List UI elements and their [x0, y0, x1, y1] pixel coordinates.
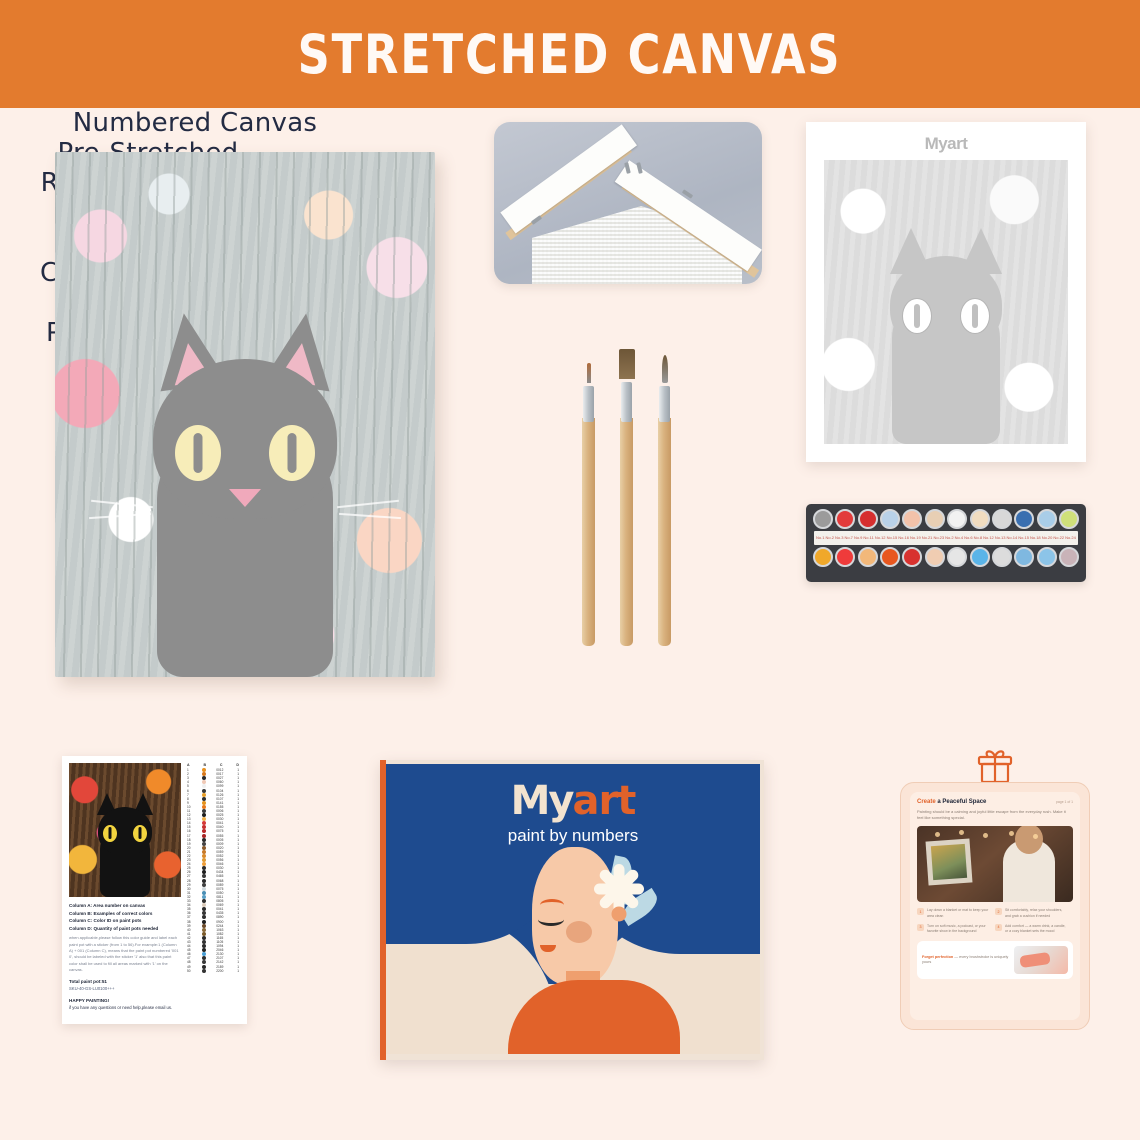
paint-pot: [1037, 509, 1057, 529]
page-title: STRETCHED CANVAS: [298, 23, 842, 86]
paint-pot-code: No.1: [816, 536, 824, 540]
swatch-color-dot: [202, 879, 206, 883]
color-card-item[interactable]: Column A: Area number on canvas Column B…: [62, 756, 247, 1024]
cat-nose: [229, 489, 261, 507]
pdf-guide-item[interactable]: Create a Peaceful Space page 1 of 1 Pain…: [900, 748, 1090, 1030]
tip-text: Lay down a blanket or mat to keep your a…: [927, 908, 991, 919]
paint-tray: No.1No.2No.3No.7No.9No.11No.12No.15No.16…: [806, 504, 1086, 582]
swatch-color-dot: [202, 920, 206, 924]
reference-sheet-artwork: [824, 160, 1068, 444]
guide-callout: Forget perfection — every brushstroke is…: [917, 941, 1073, 979]
paint-pot-code: No.15: [887, 536, 898, 540]
paint-pot-code: No.20: [1042, 536, 1053, 540]
swatch-table-body: 1001212001713002714006015009916010417012…: [186, 768, 240, 973]
reference-sheet-watermark: Myart: [806, 134, 1086, 154]
gift-icon: [975, 748, 1015, 784]
tip-number: 2: [995, 908, 1002, 915]
swatch-area-number: 50: [187, 969, 194, 973]
callout-image: [1014, 946, 1068, 974]
paint-pot-code: No.21: [922, 536, 933, 540]
swatch-col-d: D: [236, 763, 239, 767]
cat-eye-left: [175, 425, 221, 481]
guide-tips-list: 1Lay down a blanket or mat to keep your …: [917, 908, 1073, 939]
paint-pot: [858, 547, 878, 567]
color-card-legend-a: Column A: Area number on canvas: [69, 902, 181, 910]
cat-eye-right: [269, 425, 315, 481]
paint-pot-code: No.3: [835, 536, 843, 540]
daisy-flower-icon: [592, 887, 646, 941]
callout-accent: Forget perfection: [922, 955, 953, 959]
guide-title-rest: a Peaceful Space: [936, 799, 987, 805]
paint-pot: [925, 547, 945, 567]
paint-pot: [925, 509, 945, 529]
paint-pot: [992, 509, 1012, 529]
pre-stretched-image: [494, 122, 762, 284]
swatch-color-dot: [202, 965, 206, 969]
paint-pot-code: No.6: [964, 536, 972, 540]
paint-pot-row-bottom: [810, 547, 1082, 567]
guide-photo: [917, 826, 1073, 902]
guide-tip: 2Sit comfortably, relax your shoulders, …: [995, 908, 1073, 919]
color-card-email-note: if you have any questions or need help,p…: [69, 1004, 181, 1011]
paint-pot: [1059, 547, 1079, 567]
brush-round-pointed: [658, 362, 671, 646]
myart-box-item[interactable]: Myart paint by numbers: [380, 760, 764, 1060]
product-grid: Numbered Canvas Pre-Stretched Myart: [0, 108, 1140, 1140]
paint-pot-code: No.8: [974, 536, 982, 540]
paint-pot-code: No.16: [898, 536, 909, 540]
color-card-legend-b: Column B: Examples of correct colors: [69, 910, 181, 918]
page-header: STRETCHED CANVAS: [0, 0, 1140, 108]
reference-sheet-image: Myart: [806, 122, 1086, 462]
tip-text: Sit comfortably, relax your shoulders, a…: [1005, 908, 1069, 919]
numbered-canvas-image: [55, 152, 435, 677]
reference-sheet-item[interactable]: Myart: [806, 122, 1086, 462]
swatch-quantity: 1: [234, 969, 239, 973]
paint-pot-code: No.19: [910, 536, 921, 540]
color-card-artwork: [69, 763, 181, 897]
pdf-guide-image: Create a Peaceful Space page 1 of 1 Pain…: [900, 782, 1090, 1030]
myart-logo: Myart: [386, 778, 760, 824]
paint-pot-code: No.13: [995, 536, 1006, 540]
paint-pot: [992, 547, 1012, 567]
swatch-color-dot: [202, 969, 206, 973]
color-card-sku: SKU-40-GS-LU0100+++: [69, 985, 181, 992]
guide-title-row: Create a Peaceful Space page 1 of 1: [917, 799, 1073, 805]
box-front-face: Myart paint by numbers: [386, 764, 760, 1054]
paint-pot: [835, 509, 855, 529]
paint-pot-code: No.9: [854, 536, 862, 540]
color-card-happy-painting: HAPPY PAINTING!: [69, 997, 181, 1005]
color-card-image: Column A: Area number on canvas Column B…: [62, 756, 247, 1024]
guide-title-accent: Create: [917, 799, 936, 805]
paint-pot-code: No.14: [1007, 536, 1018, 540]
tip-number: 1: [917, 908, 924, 915]
paint-pot: [813, 509, 833, 529]
tip-text: Add comfort — a warm drink, a candle, or…: [1005, 924, 1069, 935]
paint-tray-label-strip: No.1No.2No.3No.7No.9No.11No.12No.15No.16…: [814, 531, 1078, 545]
swatch-color-dot: [202, 789, 206, 793]
paint-pot-code: No.22: [1053, 536, 1064, 540]
swatch-col-a: A: [187, 763, 190, 767]
paint-pot: [947, 509, 967, 529]
guide-subtitle: Painting should be a calming and joyful …: [917, 809, 1073, 821]
color-card-legend-c: Column C: Color ID on paint pots: [69, 917, 181, 925]
paint-pot-code: No.15: [1018, 536, 1029, 540]
color-card-legend-d: Column D: Quantity of paint pots needed: [69, 925, 181, 933]
guide-tip: 1Lay down a blanket or mat to keep your …: [917, 908, 995, 919]
paint-pot: [858, 509, 878, 529]
paint-pot-code: No.23: [933, 536, 944, 540]
numbered-canvas-item[interactable]: [55, 152, 435, 677]
tip-number: 4: [995, 924, 1002, 931]
pre-stretched-item[interactable]: [494, 122, 762, 284]
tip-text: Turn on soft music, a podcast, or your f…: [927, 924, 991, 935]
swatch-row: 5022001: [186, 969, 240, 973]
tip-number: 3: [917, 924, 924, 931]
logo-my: My: [511, 778, 573, 824]
canvas-artwork: [55, 152, 435, 677]
numbered-canvas-label: Numbered Canvas: [0, 108, 390, 138]
paint-pot: [1014, 547, 1034, 567]
paint-pot: [880, 547, 900, 567]
swatch-color-dot: [202, 834, 206, 838]
paint-pot-code: No.7: [844, 536, 852, 540]
color-card-body-text: when applicable,please follow this color…: [69, 935, 181, 973]
color-card-total: Total paint pot:51: [69, 978, 181, 986]
brushes-item[interactable]: [568, 354, 688, 646]
paint-pot-code: No.12: [875, 536, 886, 540]
paint-pot: [947, 547, 967, 567]
swatch-col-c: C: [220, 763, 223, 767]
paint-pot: [970, 509, 990, 529]
paint-pot: [835, 547, 855, 567]
swatch-col-b: B: [203, 763, 206, 767]
paint-pot: [902, 547, 922, 567]
cat-line-art: [882, 226, 1010, 444]
paint-pot: [970, 547, 990, 567]
paint-pot: [1037, 547, 1057, 567]
paint-pot: [902, 509, 922, 529]
paint-pot: [880, 509, 900, 529]
paint-pot: [813, 547, 833, 567]
paint-pot-code: No.4: [955, 536, 963, 540]
paint-pot-code: No.12: [983, 536, 994, 540]
paint-pot: [1059, 509, 1079, 529]
brush-flat: [620, 356, 633, 646]
myart-box-image: Myart paint by numbers: [380, 760, 764, 1060]
paint-pot-code: No.2: [945, 536, 953, 540]
guide-tip: 3Turn on soft music, a podcast, or your …: [917, 924, 995, 935]
paint-pot-code: No.2: [825, 536, 833, 540]
logo-art: art: [573, 778, 636, 824]
cat-color-illustration: [94, 793, 156, 897]
guide-tip: 4Add comfort — a warm drink, a candle, o…: [995, 924, 1073, 935]
guide-page-label: page 1 of 1: [1056, 800, 1073, 804]
acrylic-paints-item[interactable]: No.1No.2No.3No.7No.9No.11No.12No.15No.16…: [806, 504, 1086, 584]
paint-pot: [1014, 509, 1034, 529]
swatch-color-id: 2200: [213, 969, 226, 973]
cat-illustration: [139, 307, 351, 677]
paint-pot-code: No.11: [863, 536, 873, 540]
woman-illustration: [514, 839, 664, 1054]
brush-round-small: [582, 372, 595, 646]
paint-pot-code: No.24: [1065, 536, 1076, 540]
paint-pot-code: No.18: [1030, 536, 1041, 540]
paint-pot-row-top: [810, 509, 1082, 529]
